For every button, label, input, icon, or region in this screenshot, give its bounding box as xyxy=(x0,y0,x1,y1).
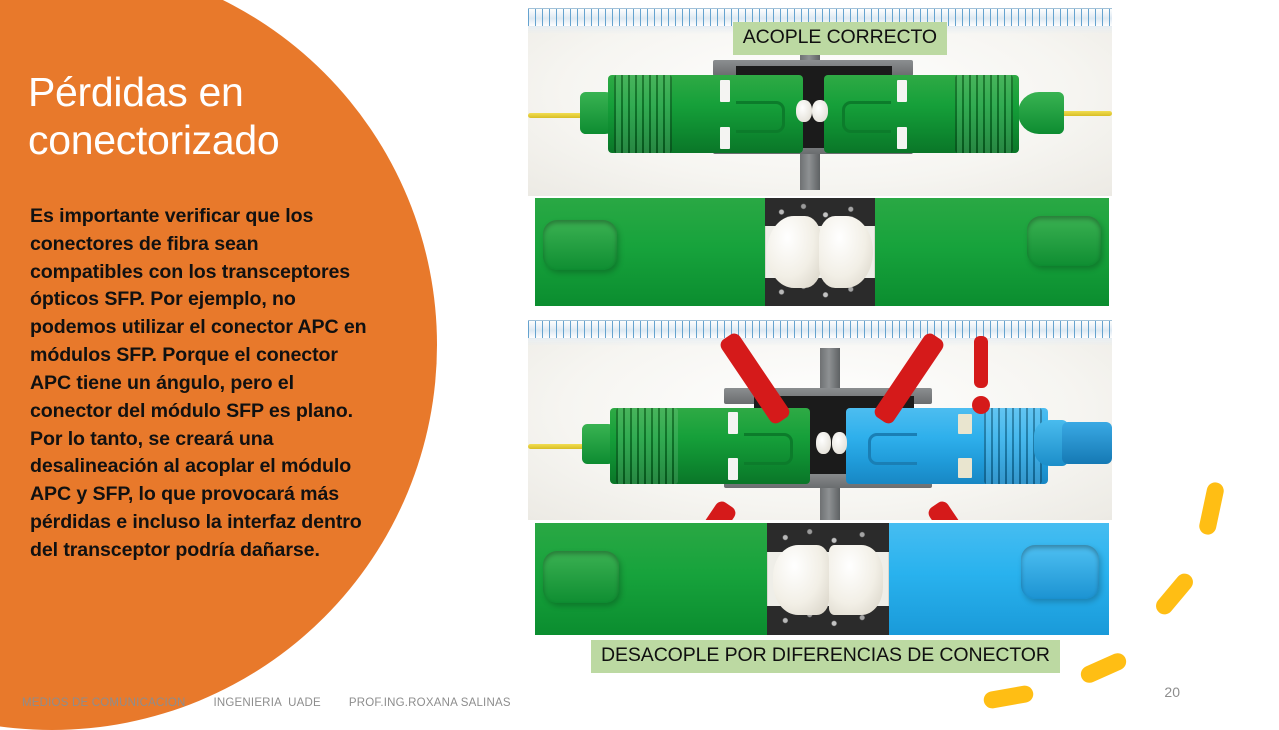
exclamation-mark-dot xyxy=(972,396,990,414)
macro-ferrule-left xyxy=(767,216,821,288)
label-acople-correcto: ACOPLE CORRECTO xyxy=(733,22,947,55)
macro-green-left xyxy=(535,523,767,635)
connector-latch xyxy=(736,101,785,133)
macro-latch-left xyxy=(543,551,619,603)
label-desacople-conector: DESACOPLE POR DIFERENCIAS DE CONECTOR xyxy=(591,640,1060,673)
macro-ferrule-window xyxy=(767,523,889,635)
macro-ferrule-window xyxy=(765,198,875,306)
connector-white-tab xyxy=(720,127,730,149)
ferrule-right xyxy=(812,100,828,122)
connector-blue-upc xyxy=(846,408,1048,484)
connector-ribs xyxy=(616,408,678,484)
macro-ferrule-right xyxy=(819,216,873,288)
yellow-dash-2 xyxy=(1153,570,1197,618)
macro-ferrule-upc xyxy=(829,545,883,615)
yellow-dash-3 xyxy=(1078,650,1129,685)
connector-latch xyxy=(842,101,891,133)
connector-white-tab xyxy=(958,458,972,478)
macro-latch-left xyxy=(543,220,617,270)
connector-green-right xyxy=(824,75,1019,153)
connector-white-tab xyxy=(720,80,730,102)
photo-incorrect-coupling xyxy=(528,320,1112,520)
exclamation-mark-bar xyxy=(974,336,988,388)
page-title: Pérdidas en conectorizado xyxy=(28,68,368,165)
connector-green-left xyxy=(608,75,803,153)
footer-course: MEDIOS DE COMUNICACION xyxy=(22,697,186,709)
ferrule-apc xyxy=(816,432,831,454)
footer: MEDIOS DE COMUNICACION INGENIERIA UADE P… xyxy=(22,697,511,709)
photo-incorrect-ferrules-macro xyxy=(535,523,1109,635)
connector-white-tab xyxy=(728,458,738,480)
photo-correct-coupling: ACOPLE CORRECTO xyxy=(528,8,1112,196)
macro-ferrule-apc xyxy=(773,545,829,615)
connector-white-tab xyxy=(958,414,972,434)
body-paragraph: Es importante verificar que los conector… xyxy=(30,203,372,565)
connector-ribs xyxy=(614,75,672,153)
connector-boot-right xyxy=(1018,92,1064,134)
fiber-cable-blue-right xyxy=(1062,422,1112,464)
macro-blue-right xyxy=(889,523,1109,635)
ferrule-upc xyxy=(832,432,847,454)
macro-green-right xyxy=(875,198,1109,306)
photo-correct-ferrules-macro xyxy=(535,198,1109,306)
yellow-dash-1 xyxy=(1198,481,1226,536)
yellow-dash-4 xyxy=(982,684,1034,709)
connector-white-tab xyxy=(728,412,738,434)
page-number: 20 xyxy=(1164,684,1180,700)
connector-latch xyxy=(744,433,793,465)
connector-white-tab xyxy=(897,127,907,149)
footer-institution: INGENIERIA UADE xyxy=(214,697,321,709)
connector-latch xyxy=(868,433,917,465)
ferrule-left xyxy=(796,100,812,122)
footer-professor: PROF.ING.ROXANA SALINAS xyxy=(349,697,511,709)
macro-green-left xyxy=(535,198,765,306)
ruler-strip-icon xyxy=(528,320,1112,339)
connector-ribs xyxy=(955,75,1013,153)
connector-white-tab xyxy=(897,80,907,102)
macro-latch-right xyxy=(1021,545,1099,599)
macro-latch-right xyxy=(1027,216,1101,266)
